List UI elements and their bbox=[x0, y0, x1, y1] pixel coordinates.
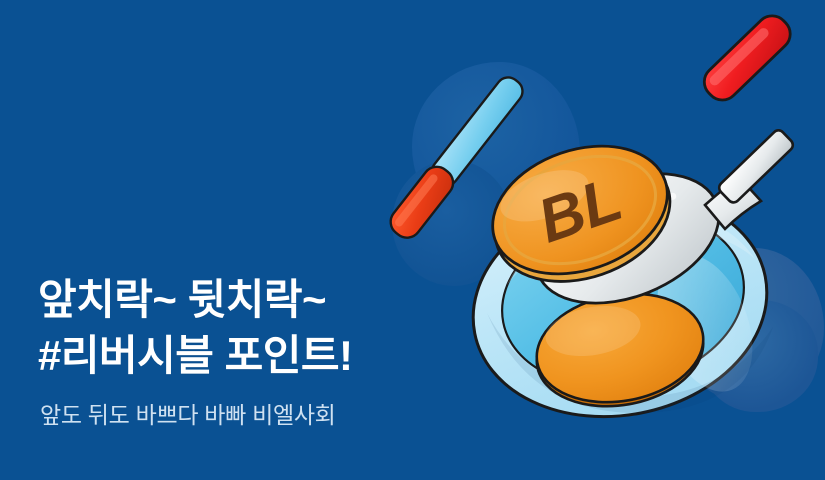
spatula-shaft bbox=[717, 128, 796, 205]
copy-block: 앞치락~ 뒷치락~ #리버시블 포인트! 앞도 뒤도 바쁘다 바빠 비엘사회 bbox=[38, 272, 458, 432]
subline: 앞도 뒤도 바쁘다 바빠 비엘사회 bbox=[40, 398, 458, 432]
headline-line-1: 앞치락~ 뒷치락~ bbox=[38, 272, 458, 328]
promo-banner: BL 앞치락~ 뒷치락~ #리버시블 포인트! 앞도 뒤도 바쁘다 바빠 비엘사… bbox=[0, 0, 825, 480]
spatula-handle bbox=[698, 9, 797, 106]
headline-line-2: #리버시블 포인트! bbox=[38, 328, 458, 384]
pan-handle-grip bbox=[385, 161, 459, 243]
